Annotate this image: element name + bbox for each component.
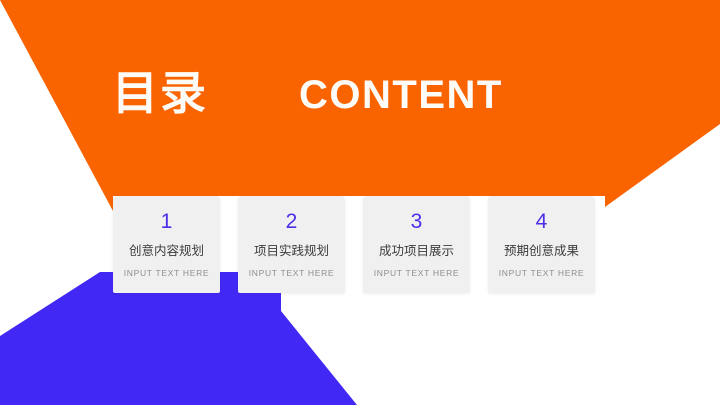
presentation-slide: 目录 CONTENT 1 创意内容规划 INPUT TEXT HERE 2 项目… xyxy=(0,0,720,405)
agenda-card-title: 预期创意成果 xyxy=(488,243,595,259)
agenda-card-3[interactable]: 3 成功项目展示 INPUT TEXT HERE xyxy=(363,196,470,293)
page-title-en: CONTENT xyxy=(299,68,503,122)
agenda-card-subtitle: INPUT TEXT HERE xyxy=(238,267,345,279)
agenda-card-list: 1 创意内容规划 INPUT TEXT HERE 2 项目实践规划 INPUT … xyxy=(0,196,720,296)
agenda-card-title: 创意内容规划 xyxy=(113,243,220,259)
agenda-card-subtitle: INPUT TEXT HERE xyxy=(363,267,470,279)
agenda-card-number: 4 xyxy=(488,210,595,234)
agenda-card-number: 1 xyxy=(113,210,220,234)
agenda-card-subtitle: INPUT TEXT HERE xyxy=(113,267,220,279)
agenda-card-title: 成功项目展示 xyxy=(363,243,470,259)
agenda-card-2[interactable]: 2 项目实践规划 INPUT TEXT HERE xyxy=(238,196,345,293)
agenda-card-subtitle: INPUT TEXT HERE xyxy=(488,267,595,279)
page-title-cn: 目录 xyxy=(112,64,208,122)
agenda-card-1[interactable]: 1 创意内容规划 INPUT TEXT HERE xyxy=(113,196,220,293)
slide-heading: 目录 CONTENT xyxy=(0,64,720,124)
agenda-card-title: 项目实践规划 xyxy=(238,243,345,259)
agenda-card-number: 3 xyxy=(363,210,470,234)
agenda-card-4[interactable]: 4 预期创意成果 INPUT TEXT HERE xyxy=(488,196,595,293)
agenda-card-number: 2 xyxy=(238,210,345,234)
